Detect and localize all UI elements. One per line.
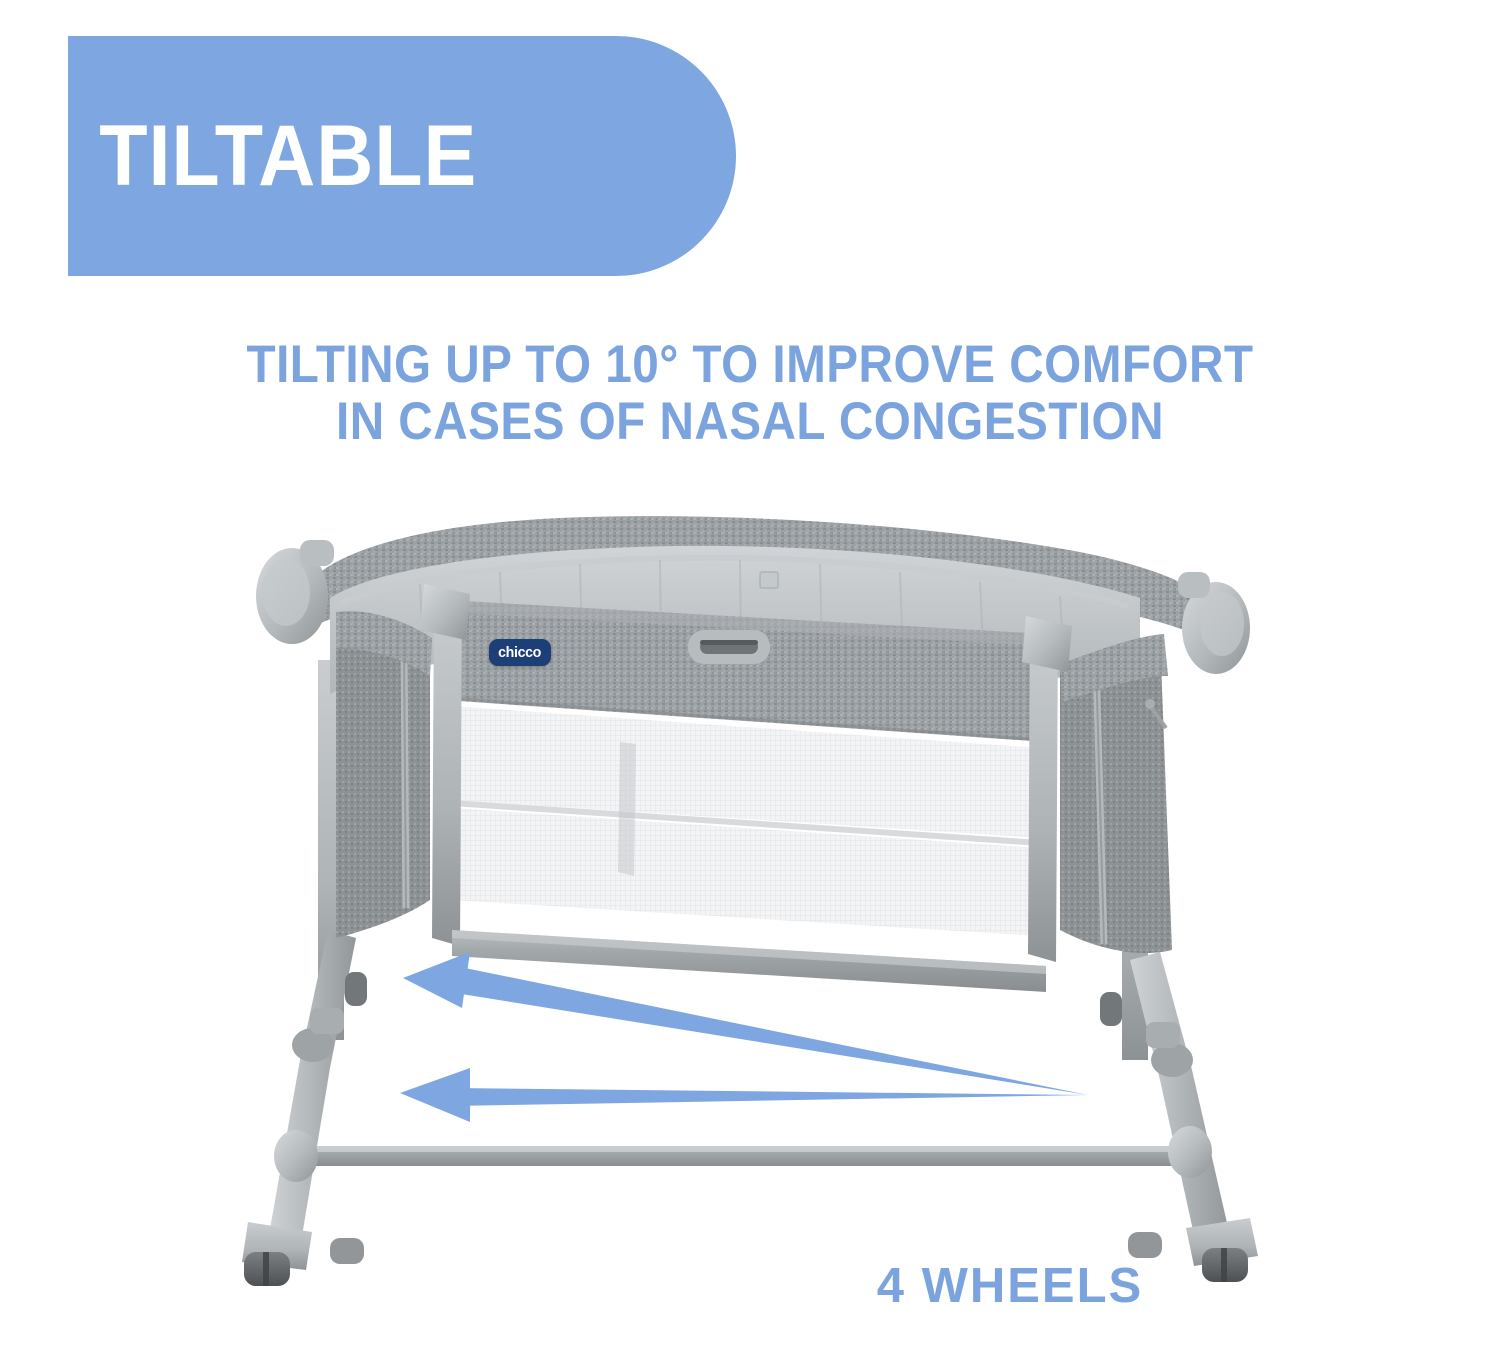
caster-rear-left bbox=[330, 1238, 364, 1264]
tilt-arrow-upper-head bbox=[403, 952, 470, 1008]
tiltable-banner: TILTABLE bbox=[68, 36, 736, 276]
crossbar-joint-left bbox=[274, 1130, 318, 1182]
feature-subtitle-line-1: TILTING UP TO 10° TO IMPROVE COMFORT bbox=[165, 336, 1335, 393]
leg-joint-right bbox=[1151, 1043, 1193, 1077]
mesh-strut-mid bbox=[618, 742, 636, 876]
tilt-knob-right[interactable] bbox=[1178, 572, 1250, 674]
chicco-brand-text: chicco bbox=[499, 644, 542, 661]
care-label bbox=[760, 572, 778, 588]
tilt-lever-right bbox=[1100, 992, 1122, 1026]
wheels-label: 4 WHEELS bbox=[810, 1258, 1210, 1314]
tilt-lever-left bbox=[345, 972, 367, 1006]
feature-subtitle: TILTING UP TO 10° TO IMPROVE COMFORT IN … bbox=[100, 336, 1400, 450]
tilt-arrow-lower-tail bbox=[452, 1088, 1088, 1106]
leg-left bbox=[268, 930, 356, 1248]
bassinet-illustration bbox=[0, 470, 1500, 1340]
front-post-left bbox=[432, 598, 462, 946]
feature-subtitle-line-2: IN CASES OF NASAL CONGESTION bbox=[165, 393, 1335, 450]
tiltable-banner-label: TILTABLE bbox=[68, 113, 477, 199]
caster-front-left bbox=[244, 1252, 290, 1286]
corner-joint-front-left bbox=[420, 584, 470, 640]
tilt-knob-left[interactable] bbox=[256, 540, 334, 644]
product-image bbox=[0, 470, 1500, 1340]
crossbar-joint-right bbox=[1168, 1126, 1212, 1178]
tilt-arrow-lower-head bbox=[400, 1068, 470, 1122]
leg-right bbox=[1130, 952, 1230, 1244]
chicco-brand-badge: chicco bbox=[489, 639, 551, 666]
bassinet-body bbox=[256, 516, 1250, 992]
caster-rear-right bbox=[1128, 1232, 1162, 1258]
corner-joint-front-right bbox=[1022, 616, 1072, 672]
feature-callout-page: TILTABLE TILTING UP TO 10° TO IMPROVE CO… bbox=[0, 0, 1500, 1365]
release-handle[interactable] bbox=[688, 630, 770, 664]
front-post-right bbox=[1028, 630, 1058, 962]
